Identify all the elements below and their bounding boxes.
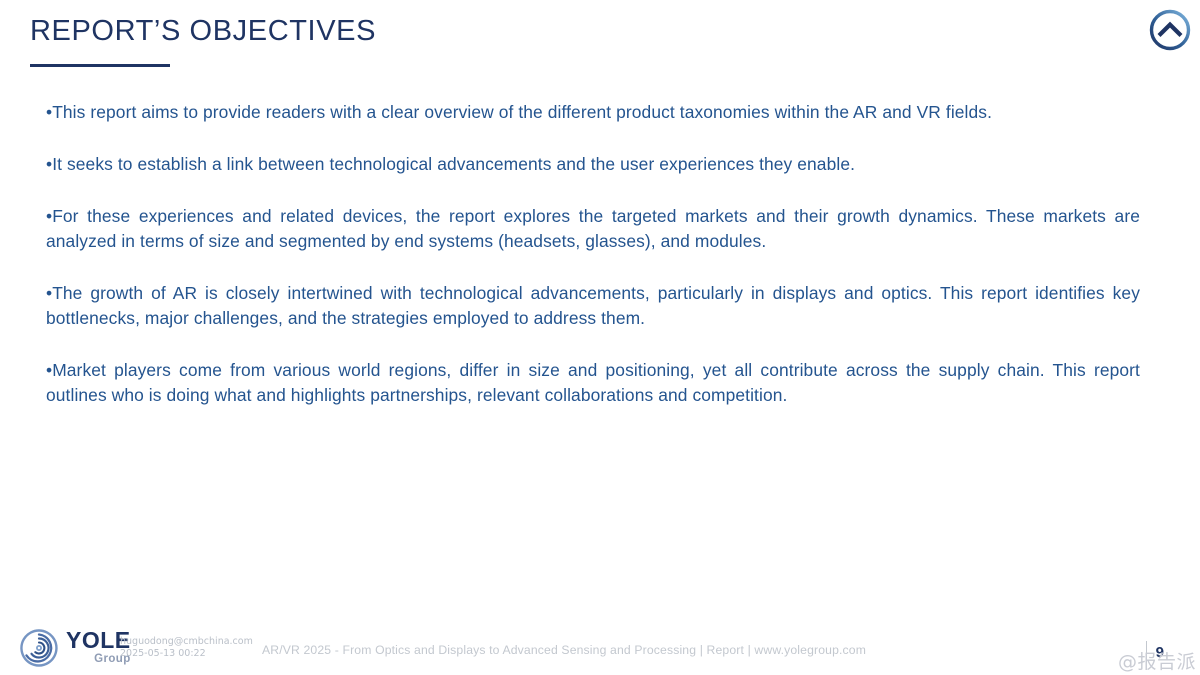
bullet-paragraph: •Market players come from various world … (46, 358, 1140, 408)
title-underline-rule (30, 64, 170, 67)
slide-footer: YOLE Group huguodong@cmbchina.com 2025-0… (0, 617, 1200, 675)
circle-chevron-up-icon[interactable] (1148, 8, 1192, 52)
title-block: REPORT’S OBJECTIVES (30, 16, 730, 67)
footer-caption: AR/VR 2025 - From Optics and Displays to… (0, 643, 1200, 657)
slide-canvas: REPORT’S OBJECTIVES •This report aims to… (0, 0, 1200, 675)
bullet-paragraph: •The growth of AR is closely intertwined… (46, 281, 1140, 331)
brand-watermark: @报告派 (1118, 647, 1196, 674)
bullet-paragraph: •It seeks to establish a link between te… (46, 152, 1140, 177)
bullet-paragraph: •For these experiences and related devic… (46, 204, 1140, 254)
body-content: •This report aims to provide readers wit… (46, 100, 1140, 408)
page-title: REPORT’S OBJECTIVES (30, 16, 730, 48)
bullet-paragraph: •This report aims to provide readers wit… (46, 100, 1140, 125)
